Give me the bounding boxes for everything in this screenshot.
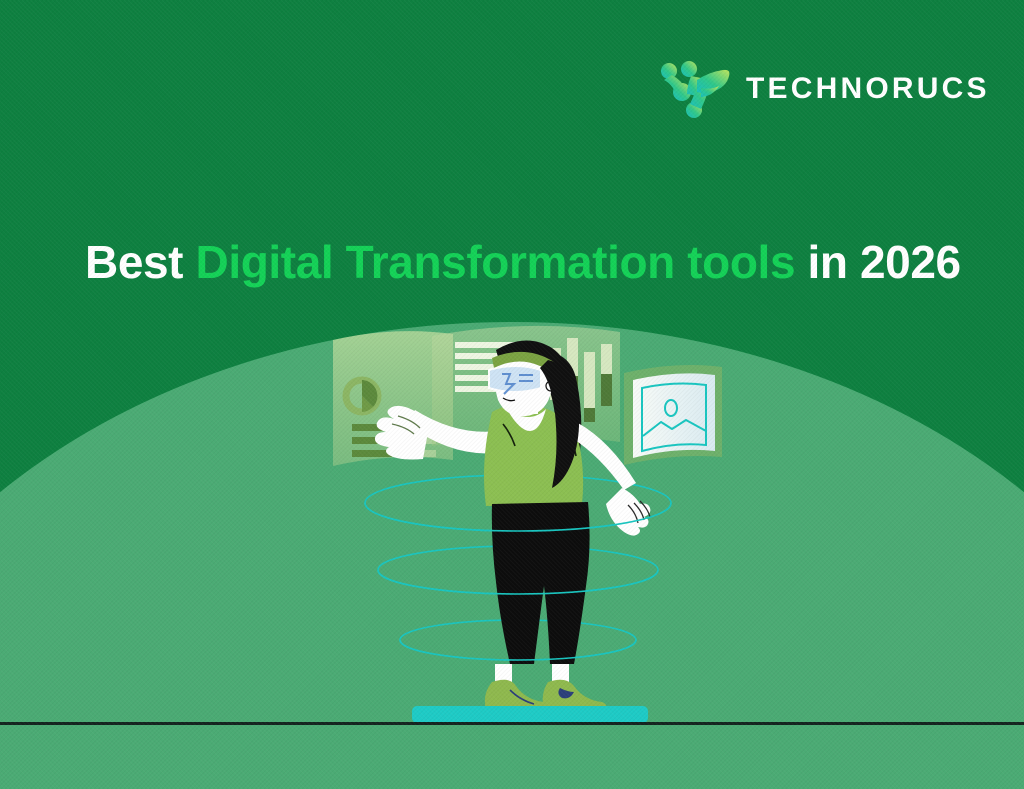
ground-line	[0, 722, 1024, 725]
page-title: Best Digital Transformation tools in 202…	[85, 237, 961, 289]
title-part-plain-2: in 2026	[795, 236, 961, 288]
right-shoe	[543, 680, 607, 710]
technorucs-node-network-mark	[660, 58, 732, 120]
title-part-plain-1: Best	[85, 236, 196, 288]
progress-bar-3-fill	[352, 450, 392, 457]
banner-root: Best Digital Transformation tools in 202…	[0, 0, 1024, 789]
vr-platform-pedestal	[412, 706, 648, 723]
title-part-accent: Digital Transformation tools	[196, 236, 796, 288]
pants	[492, 502, 590, 664]
brand-wordmark: TECHNORUCS	[746, 74, 990, 104]
panel-image-right	[624, 365, 722, 465]
left-shoe	[485, 680, 549, 710]
brand-logo[interactable]: TECHNORUCS	[660, 58, 960, 120]
vr-goggles-lens	[489, 366, 541, 394]
right-hand	[606, 488, 650, 536]
